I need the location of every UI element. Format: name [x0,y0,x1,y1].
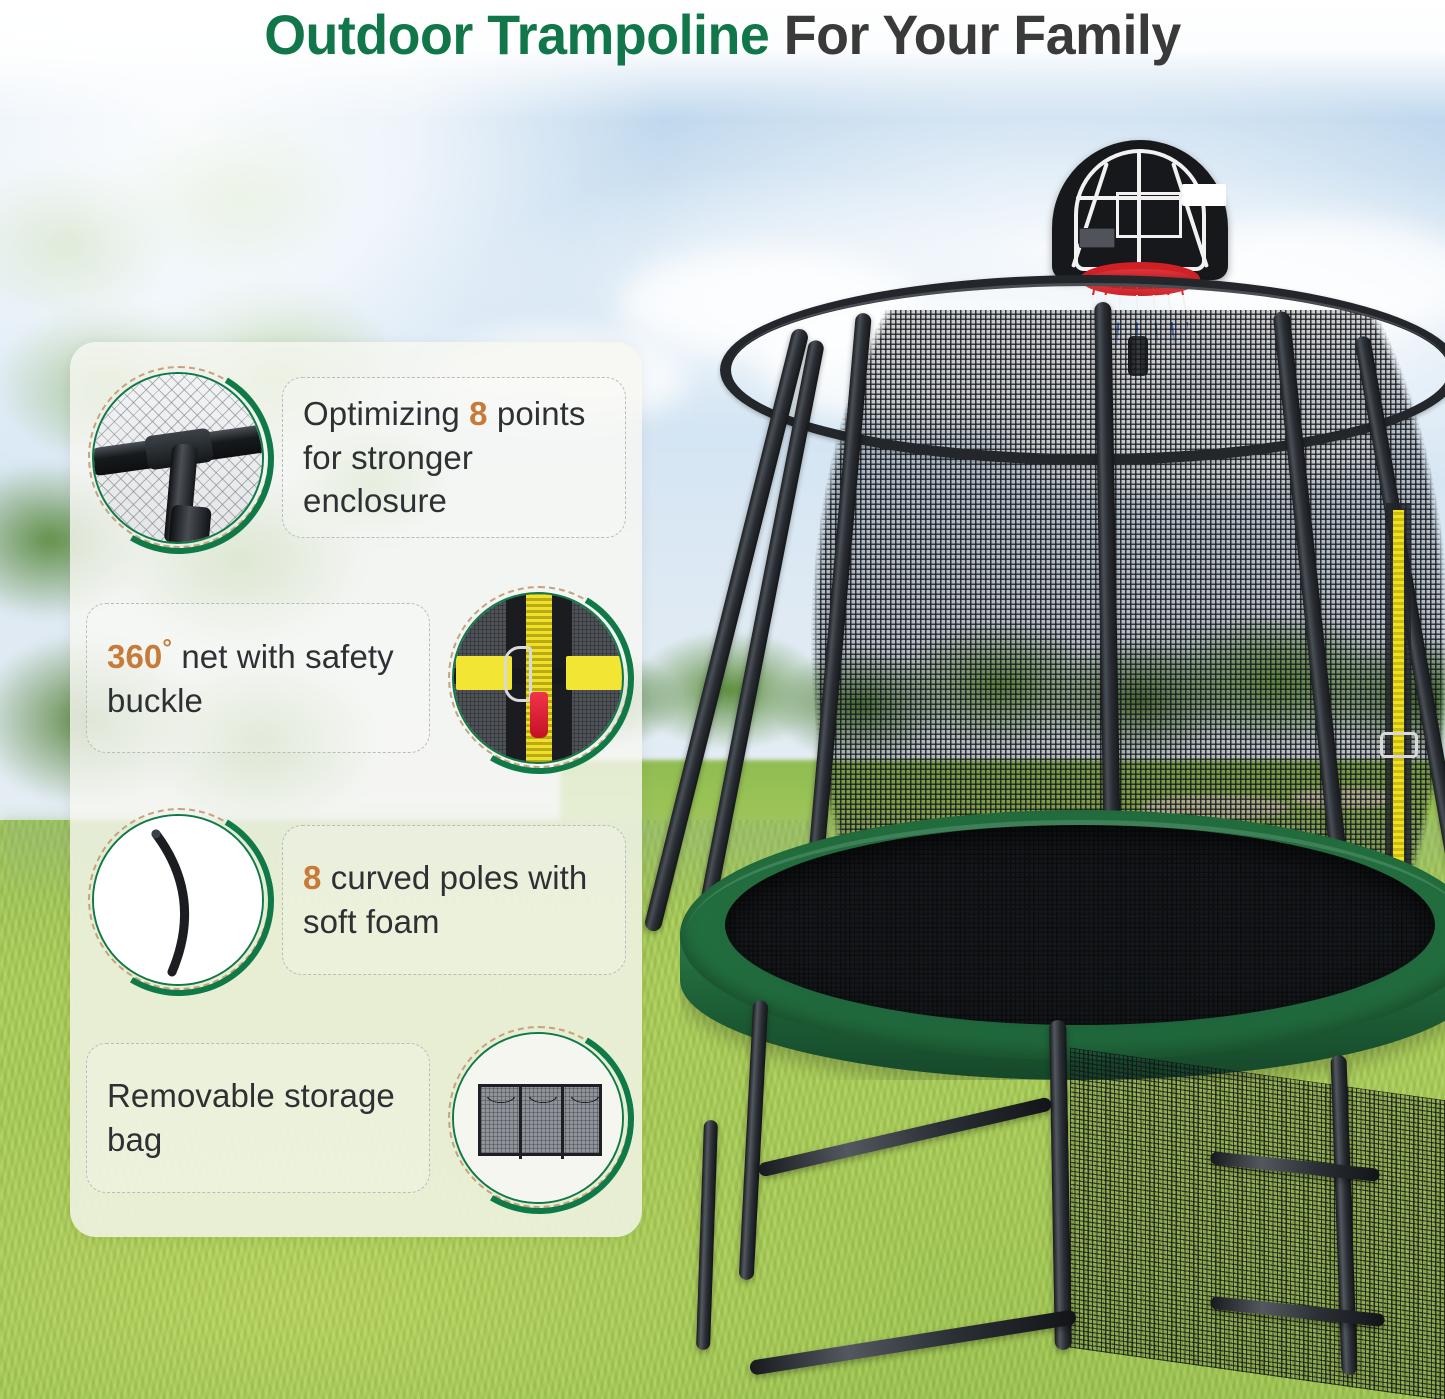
feature-highlight-number: 8 [469,395,487,432]
red-zipper-pull [530,692,548,738]
frame-pad-highlight [686,820,1445,1052]
feature-icon-storage-bag [430,1018,642,1218]
curved-pole-illustration [92,814,264,986]
feature-icon-curved-poles [70,800,282,1000]
feature-text-curved-poles: 8 curved poles with soft foam [303,856,605,943]
feature-text-post: curved poles with soft foam [303,859,587,940]
backboard-warning-label [1182,184,1226,206]
feature-text-box-safety-net: 360° net with safety buckle [86,603,430,753]
curved-pole-svg-icon [94,816,264,986]
feature-item-storage-bag: Removable storage bag [70,1010,642,1225]
feature-text-safety-net: 360° net with safety buckle [107,633,409,722]
feature-text-storage-bag: Removable storage bag [107,1074,409,1161]
feature-item-curved-poles: 8 curved poles with soft foam [70,792,642,1007]
trampoline-product [600,120,1445,1350]
feature-item-enclosure-points: Optimizing 8 points for stronger enclosu… [70,350,642,565]
feature-text-enclosure-points: Optimizing 8 points for stronger enclosu… [303,392,605,523]
enclosure-rim-highlight [730,283,1445,455]
backboard-mount-plate [1079,228,1115,248]
under-frame-storage-net [1070,1048,1445,1399]
feature-text-box-enclosure-points: Optimizing 8 points for stronger enclosu… [282,377,626,538]
net-pole-connector-photo [92,372,264,544]
product-marketing-image: Optimizing 8 points for stronger enclosu… [0,0,1445,1399]
feature-text-box-curved-poles: 8 curved poles with soft foam [282,825,626,975]
storage-bag-illustration [452,1032,624,1204]
leg-brace-diagonal [696,1120,718,1350]
backboard-shooting-box [1116,192,1182,238]
feature-item-safety-net: 360° net with safety buckle [70,570,642,785]
feature-icon-safety-net [430,578,642,778]
page-title: Outdoor Trampoline For Your Family [29,2,1416,68]
feature-highlight-number: 360 [107,638,162,675]
storage-bag-icon [478,1084,602,1156]
zipper-safety-buckle-photo [452,592,624,764]
net-entry-buckle [1380,732,1418,758]
hoop-backboard [1052,140,1228,280]
degree-symbol: ° [162,635,172,662]
leg-vertical-left [739,1000,769,1280]
bag-scalloped-top [481,1097,605,1111]
feature-text-box-storage-bag: Removable storage bag [86,1043,430,1193]
metal-buckle-icon [504,646,532,702]
leg-brace-upper-left [757,1096,1052,1177]
feature-text-pre: Optimizing [303,395,469,432]
feature-panel: Optimizing 8 points for stronger enclosu… [70,342,642,1237]
title-dark-part: For Your Family [769,3,1181,66]
feature-highlight-number: 8 [303,859,321,896]
feature-icon-enclosure-points [70,358,282,558]
connector-end-cap [168,504,212,544]
title-green-part: Outdoor Trampoline [264,3,769,66]
yellow-strap-right [566,656,622,690]
